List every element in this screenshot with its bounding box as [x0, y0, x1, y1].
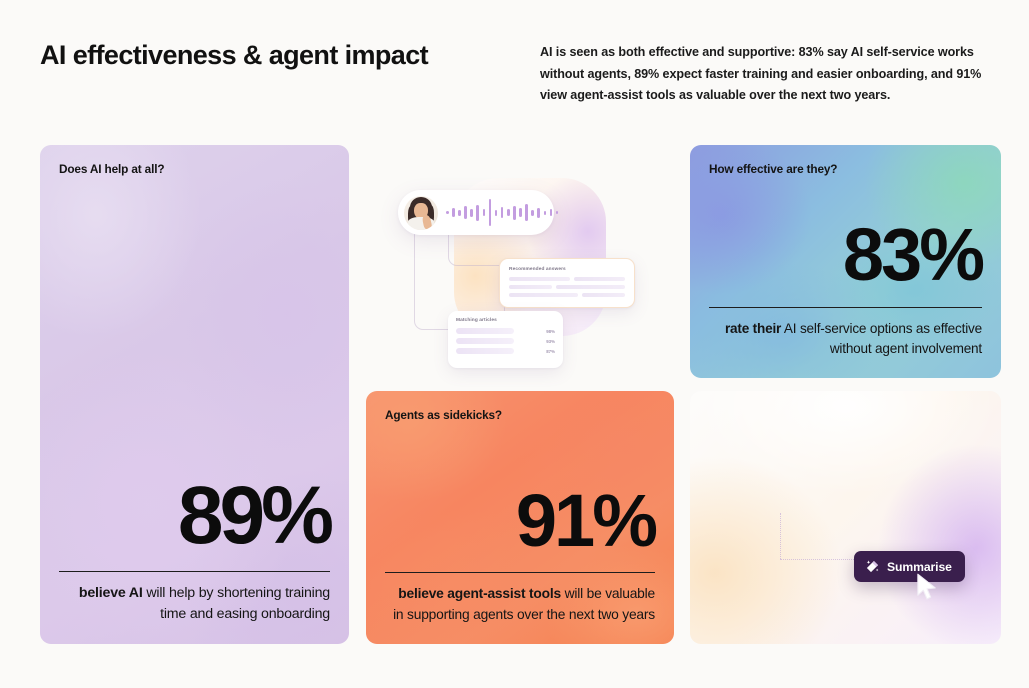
matching-article-pct: 93% [546, 339, 555, 344]
matching-article-pct: 87% [546, 349, 555, 354]
summarise-button-label: Summarise [887, 560, 952, 574]
stat-divider [59, 571, 330, 572]
thread-connector-lower [414, 228, 452, 330]
matching-article-bar [456, 328, 514, 334]
matching-article-bar [456, 348, 514, 354]
card-label-agents-as-sidekicks: Agents as sidekicks? [385, 408, 502, 422]
recommended-answers-title: Recommended answers [509, 267, 625, 272]
stat-value-91: 91% [385, 486, 655, 556]
stat-block-91: 91% believe agent-assist tools will be v… [385, 486, 655, 625]
matching-article-pct: 98% [546, 329, 555, 334]
stat-card-how-effective: How effective are they? 83% rate their A… [690, 145, 1001, 378]
card-label-does-ai-help: Does AI help at all? [59, 162, 164, 176]
magic-wand-icon [865, 559, 880, 574]
skeleton-row [509, 277, 625, 281]
stat-caption-rest: AI self-service options as effective wit… [781, 321, 982, 356]
matching-article-row: 98% [456, 328, 555, 334]
card-label-how-effective: How effective are they? [709, 162, 837, 176]
stat-card-does-ai-help: Does AI help at all? 89% believe AI will… [40, 145, 349, 644]
page-header: AI effectiveness & agent impact AI is se… [40, 38, 999, 118]
stat-caption-83: rate their AI self-service options as ef… [709, 319, 982, 359]
stat-block-89: 89% believe AI will help by shortening t… [59, 477, 330, 625]
matching-articles-title: Matching articles [456, 318, 555, 323]
page-title: AI effectiveness & agent impact [40, 38, 460, 72]
stat-value-89: 89% [59, 477, 330, 555]
skeleton-row [509, 285, 625, 289]
matching-article-row: 87% [456, 348, 555, 354]
stat-caption-rest: will help by shortening training time an… [143, 585, 330, 622]
stat-block-83: 83% rate their AI self-service options a… [709, 220, 982, 359]
audio-waveform-icon [438, 190, 558, 235]
matching-article-bar [456, 338, 514, 344]
stat-caption-bold: rate their [725, 321, 781, 336]
cursor-pointer-icon [916, 573, 938, 601]
stat-divider [385, 572, 655, 573]
stat-caption-91: believe agent-assist tools will be valua… [385, 584, 655, 625]
stat-caption-bold: believe AI [79, 585, 143, 601]
summarise-button[interactable]: Summarise [854, 551, 965, 582]
stat-value-83: 83% [709, 220, 982, 290]
skeleton-row [509, 293, 625, 297]
connector-line-horizontal [780, 559, 862, 560]
stat-caption-bold: believe agent-assist tools [398, 586, 561, 601]
stat-caption-89: believe AI will help by shortening train… [59, 583, 330, 625]
recommended-answers-card[interactable]: Recommended answers [499, 258, 635, 308]
illustration-ai-assist: Recommended answers Matching articles 98… [392, 176, 650, 373]
stat-card-agents-as-sidekicks: Agents as sidekicks? 91% believe agent-a… [366, 391, 674, 644]
matching-article-row: 93% [456, 338, 555, 344]
illustration-card-summarise: Summarise [690, 391, 1001, 644]
avatar [404, 196, 438, 230]
voice-message-pill[interactable] [398, 190, 554, 235]
stat-divider [709, 307, 982, 308]
connector-line-vertical [780, 513, 781, 559]
matching-articles-card[interactable]: Matching articles 98% 93% 87% [448, 311, 563, 368]
intro-paragraph: AI is seen as both effective and support… [540, 42, 1002, 107]
